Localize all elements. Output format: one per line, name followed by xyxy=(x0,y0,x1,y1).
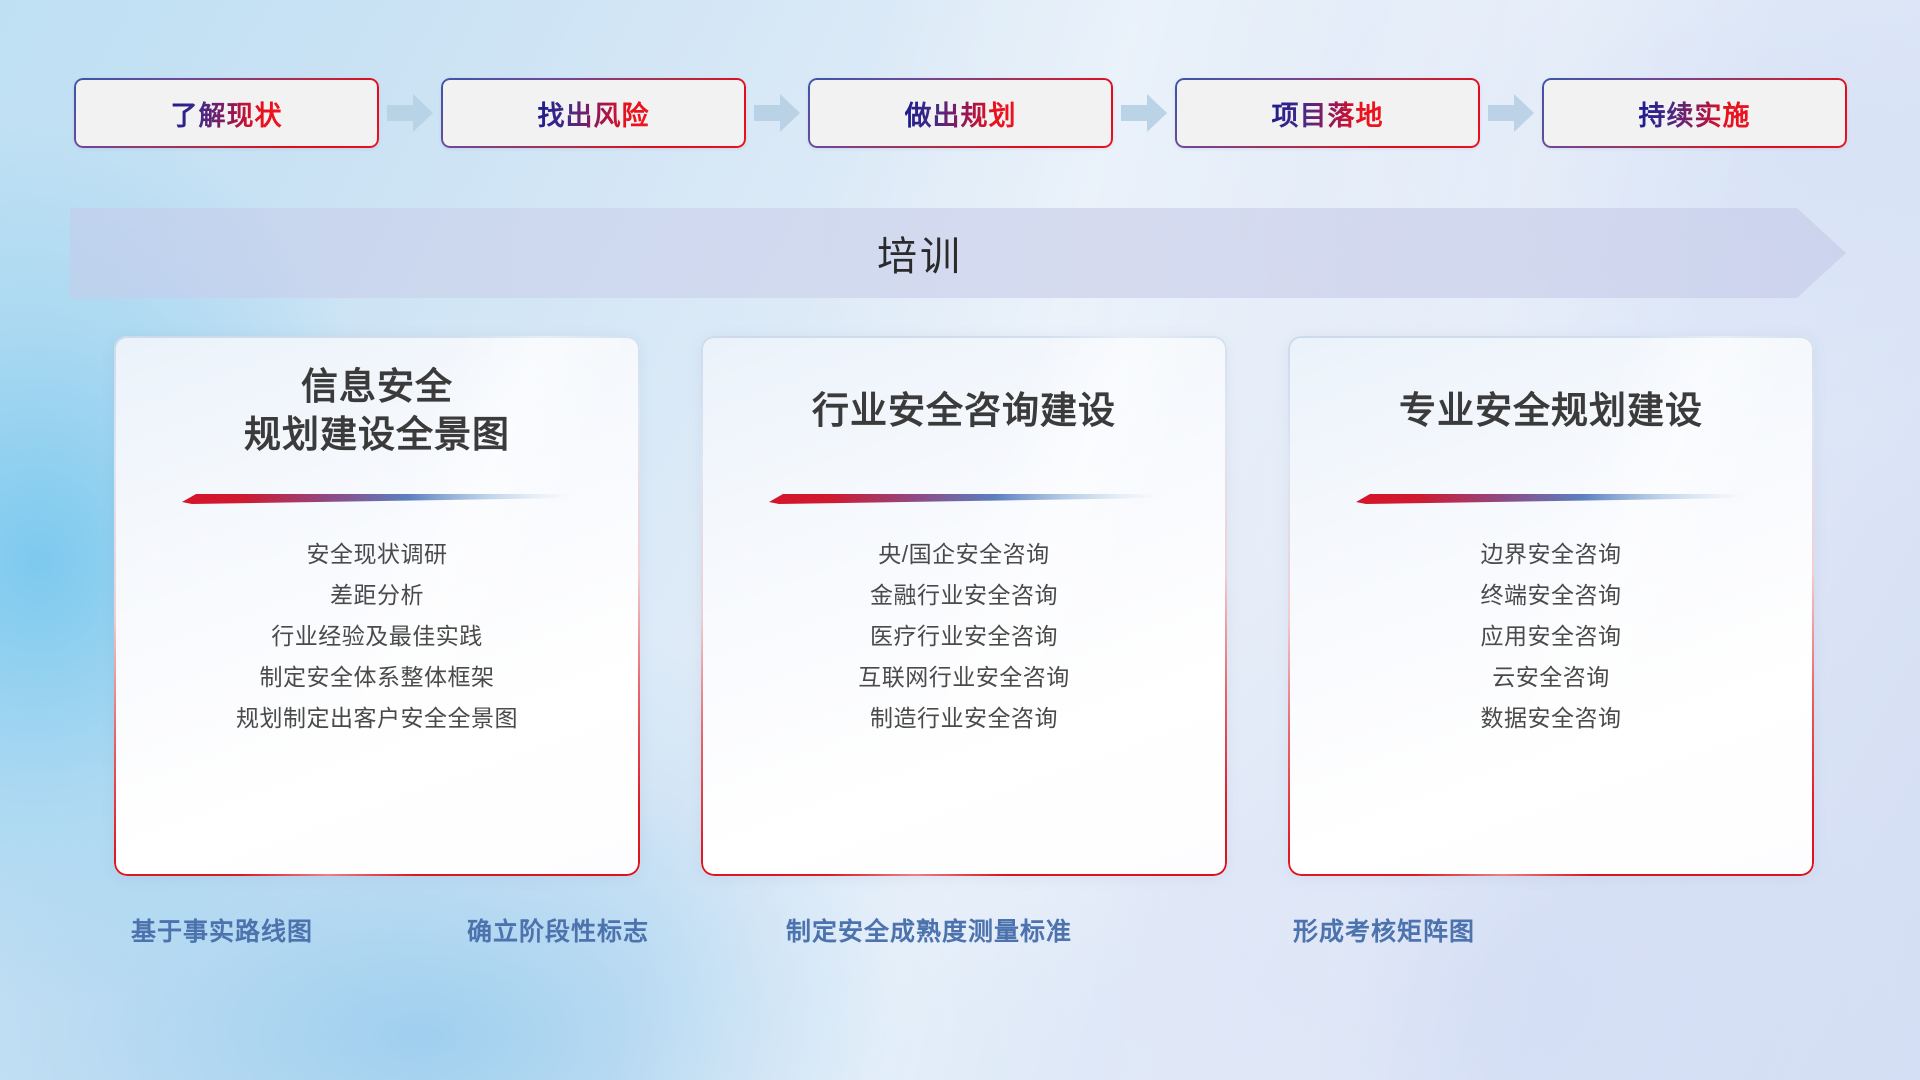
list-item: 应用安全咨询 xyxy=(1481,616,1622,657)
card-title-1-line-1: 信息安全 xyxy=(301,366,453,407)
slide-canvas: 了解现状 找出风险 做出规划 项目落地 xyxy=(0,0,1920,1080)
list-item: 央/国企安全咨询 xyxy=(878,534,1049,575)
step-box-1[interactable]: 了解现状 xyxy=(74,78,379,148)
card-title-3: 专业安全规划建设 xyxy=(1314,336,1788,486)
footnote-4: 形成考核矩阵图 xyxy=(1293,912,1475,948)
list-item: 制造行业安全咨询 xyxy=(870,698,1058,739)
step-connector-arrow-1 xyxy=(379,94,441,132)
step-label-5: 持续实施 xyxy=(1639,94,1751,133)
footnote-2: 确立阶段性标志 xyxy=(467,912,649,948)
card-divider-2 xyxy=(769,492,1159,504)
card-list-3: 边界安全咨询 终端安全咨询 应用安全咨询 云安全咨询 数据安全咨询 xyxy=(1314,534,1788,739)
card-divider-3 xyxy=(1356,492,1746,504)
list-item: 云安全咨询 xyxy=(1492,657,1610,698)
step-label-4: 项目落地 xyxy=(1272,94,1384,133)
card-list-1: 安全现状调研 差距分析 行业经验及最佳实践 制定安全体系整体框架 规划制定出客户… xyxy=(140,534,614,739)
step-box-4[interactable]: 项目落地 xyxy=(1175,78,1480,148)
step-label-2: 找出风险 xyxy=(538,94,650,133)
card-title-2: 行业安全咨询建设 xyxy=(727,336,1201,486)
list-item: 规划制定出客户安全全景图 xyxy=(236,698,518,739)
step-box-5[interactable]: 持续实施 xyxy=(1542,78,1847,148)
card-divider-1 xyxy=(182,492,572,504)
card-professional-security-planning[interactable]: 专业安全规划建设 边界安全咨 xyxy=(1288,336,1814,876)
card-list-2: 央/国企安全咨询 金融行业安全咨询 医疗行业安全咨询 互联网行业安全咨询 制造行… xyxy=(727,534,1201,739)
list-item: 终端安全咨询 xyxy=(1481,575,1622,616)
list-item: 制定安全体系整体框架 xyxy=(260,657,495,698)
step-box-3[interactable]: 做出规划 xyxy=(808,78,1113,148)
step-label-1: 了解现状 xyxy=(171,94,283,133)
list-item: 金融行业安全咨询 xyxy=(870,575,1058,616)
footnote-row: 基于事实路线图 确立阶段性标志 制定安全成熟度测量标准 形成考核矩阵图 xyxy=(0,912,1920,960)
card-industry-security-consulting[interactable]: 行业安全咨询建设 央/国企安 xyxy=(701,336,1227,876)
card-information-security-blueprint[interactable]: 信息安全 规划建设全景图 xyxy=(114,336,640,876)
list-item: 安全现状调研 xyxy=(307,534,448,575)
process-step-row: 了解现状 找出风险 做出规划 项目落地 xyxy=(74,78,1846,148)
list-item: 医疗行业安全咨询 xyxy=(870,616,1058,657)
step-connector-arrow-2 xyxy=(746,94,808,132)
card-title-1-line-2: 规划建设全景图 xyxy=(244,414,510,455)
training-band: 培训 xyxy=(70,208,1846,298)
step-label-3: 做出规划 xyxy=(905,94,1017,133)
list-item: 数据安全咨询 xyxy=(1481,698,1622,739)
list-item: 边界安全咨询 xyxy=(1481,534,1622,575)
step-connector-arrow-3 xyxy=(1113,94,1175,132)
list-item: 互联网行业安全咨询 xyxy=(858,657,1070,698)
step-connector-arrow-4 xyxy=(1480,94,1542,132)
band-title: 培训 xyxy=(70,208,1770,298)
card-title-1: 信息安全 规划建设全景图 xyxy=(140,336,614,486)
step-box-2[interactable]: 找出风险 xyxy=(441,78,746,148)
footnote-3: 制定安全成熟度测量标准 xyxy=(786,912,1072,948)
list-item: 行业经验及最佳实践 xyxy=(271,616,483,657)
card-row: 信息安全 规划建设全景图 xyxy=(114,336,1814,876)
list-item: 差距分析 xyxy=(330,575,424,616)
footnote-1: 基于事实路线图 xyxy=(131,912,313,948)
